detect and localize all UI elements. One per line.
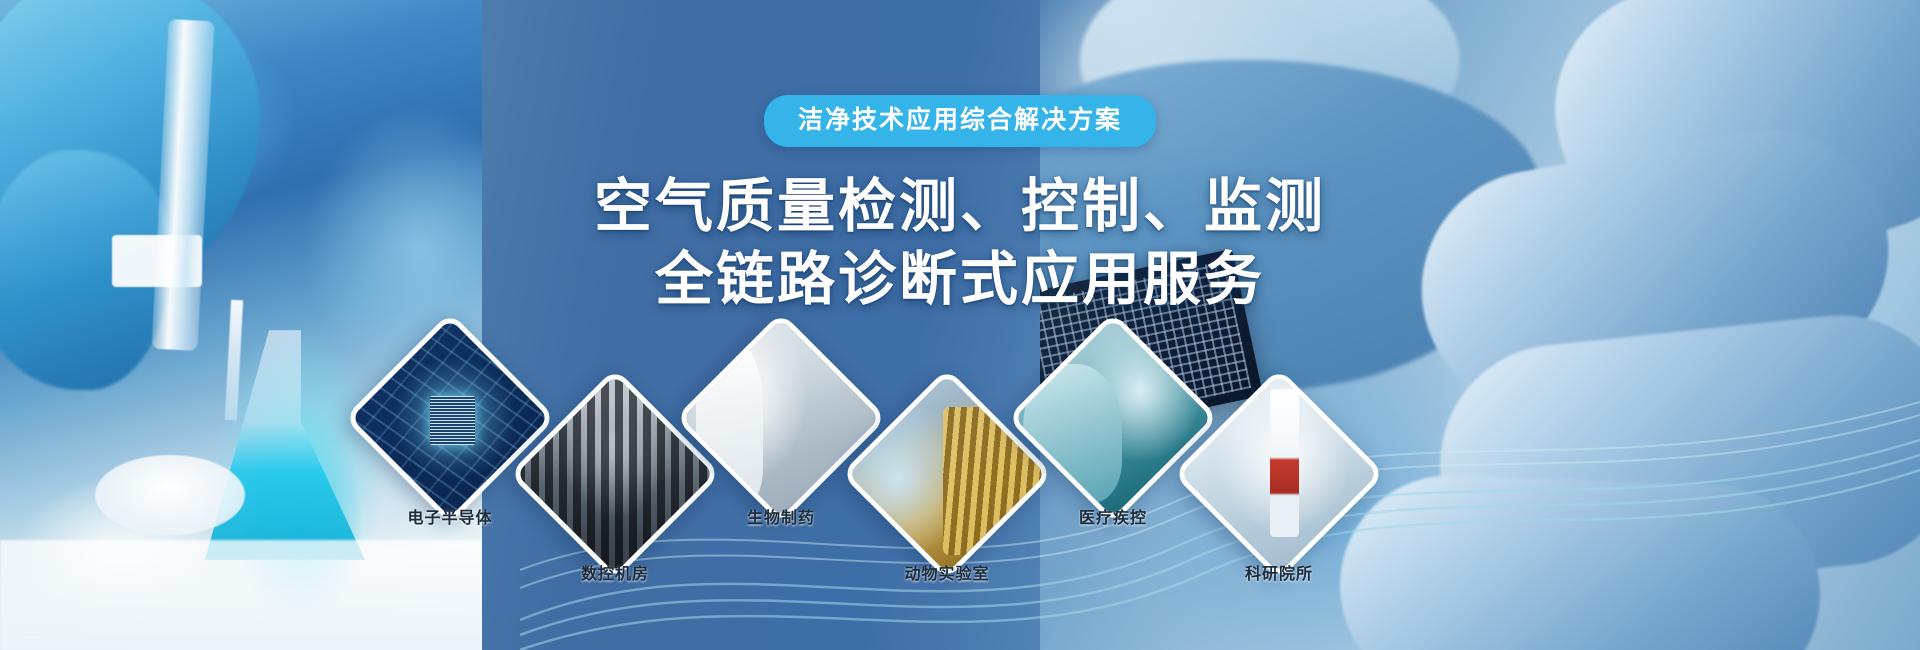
tagline-badge: 洁净技术应用综合解决方案	[764, 95, 1156, 147]
page-title: 空气质量检测、控制、监测 全链路诊断式应用服务	[0, 170, 1920, 316]
banner-copy: 洁净技术应用综合解决方案 空气质量检测、控制、监测 全链路诊断式应用服务	[0, 95, 1920, 316]
headline-line-1: 空气质量检测、控制、监测	[594, 174, 1326, 239]
industry-card-label-semiconductor[interactable]: 电子半导体	[340, 504, 560, 528]
industry-card-label-data-center[interactable]: 数控机房	[505, 560, 725, 584]
hero-banner: 洁净技术应用综合解决方案 空气质量检测、控制、监测 全链路诊断式应用服务 电子半…	[0, 0, 1920, 650]
headline-line-2: 全链路诊断式应用服务	[0, 243, 1920, 316]
glove-finger-4-shape	[1336, 472, 1823, 650]
lab-bench-shape	[0, 540, 482, 650]
industry-card-label-medical[interactable]: 医疗疾控	[1003, 504, 1223, 528]
industry-card-label-animal-lab[interactable]: 动物实验室	[837, 560, 1057, 584]
petri-dish-shape	[95, 455, 245, 535]
industry-card-label-biopharma[interactable]: 生物制药	[671, 504, 891, 528]
industry-card-label-research[interactable]: 科研院所	[1169, 560, 1389, 584]
